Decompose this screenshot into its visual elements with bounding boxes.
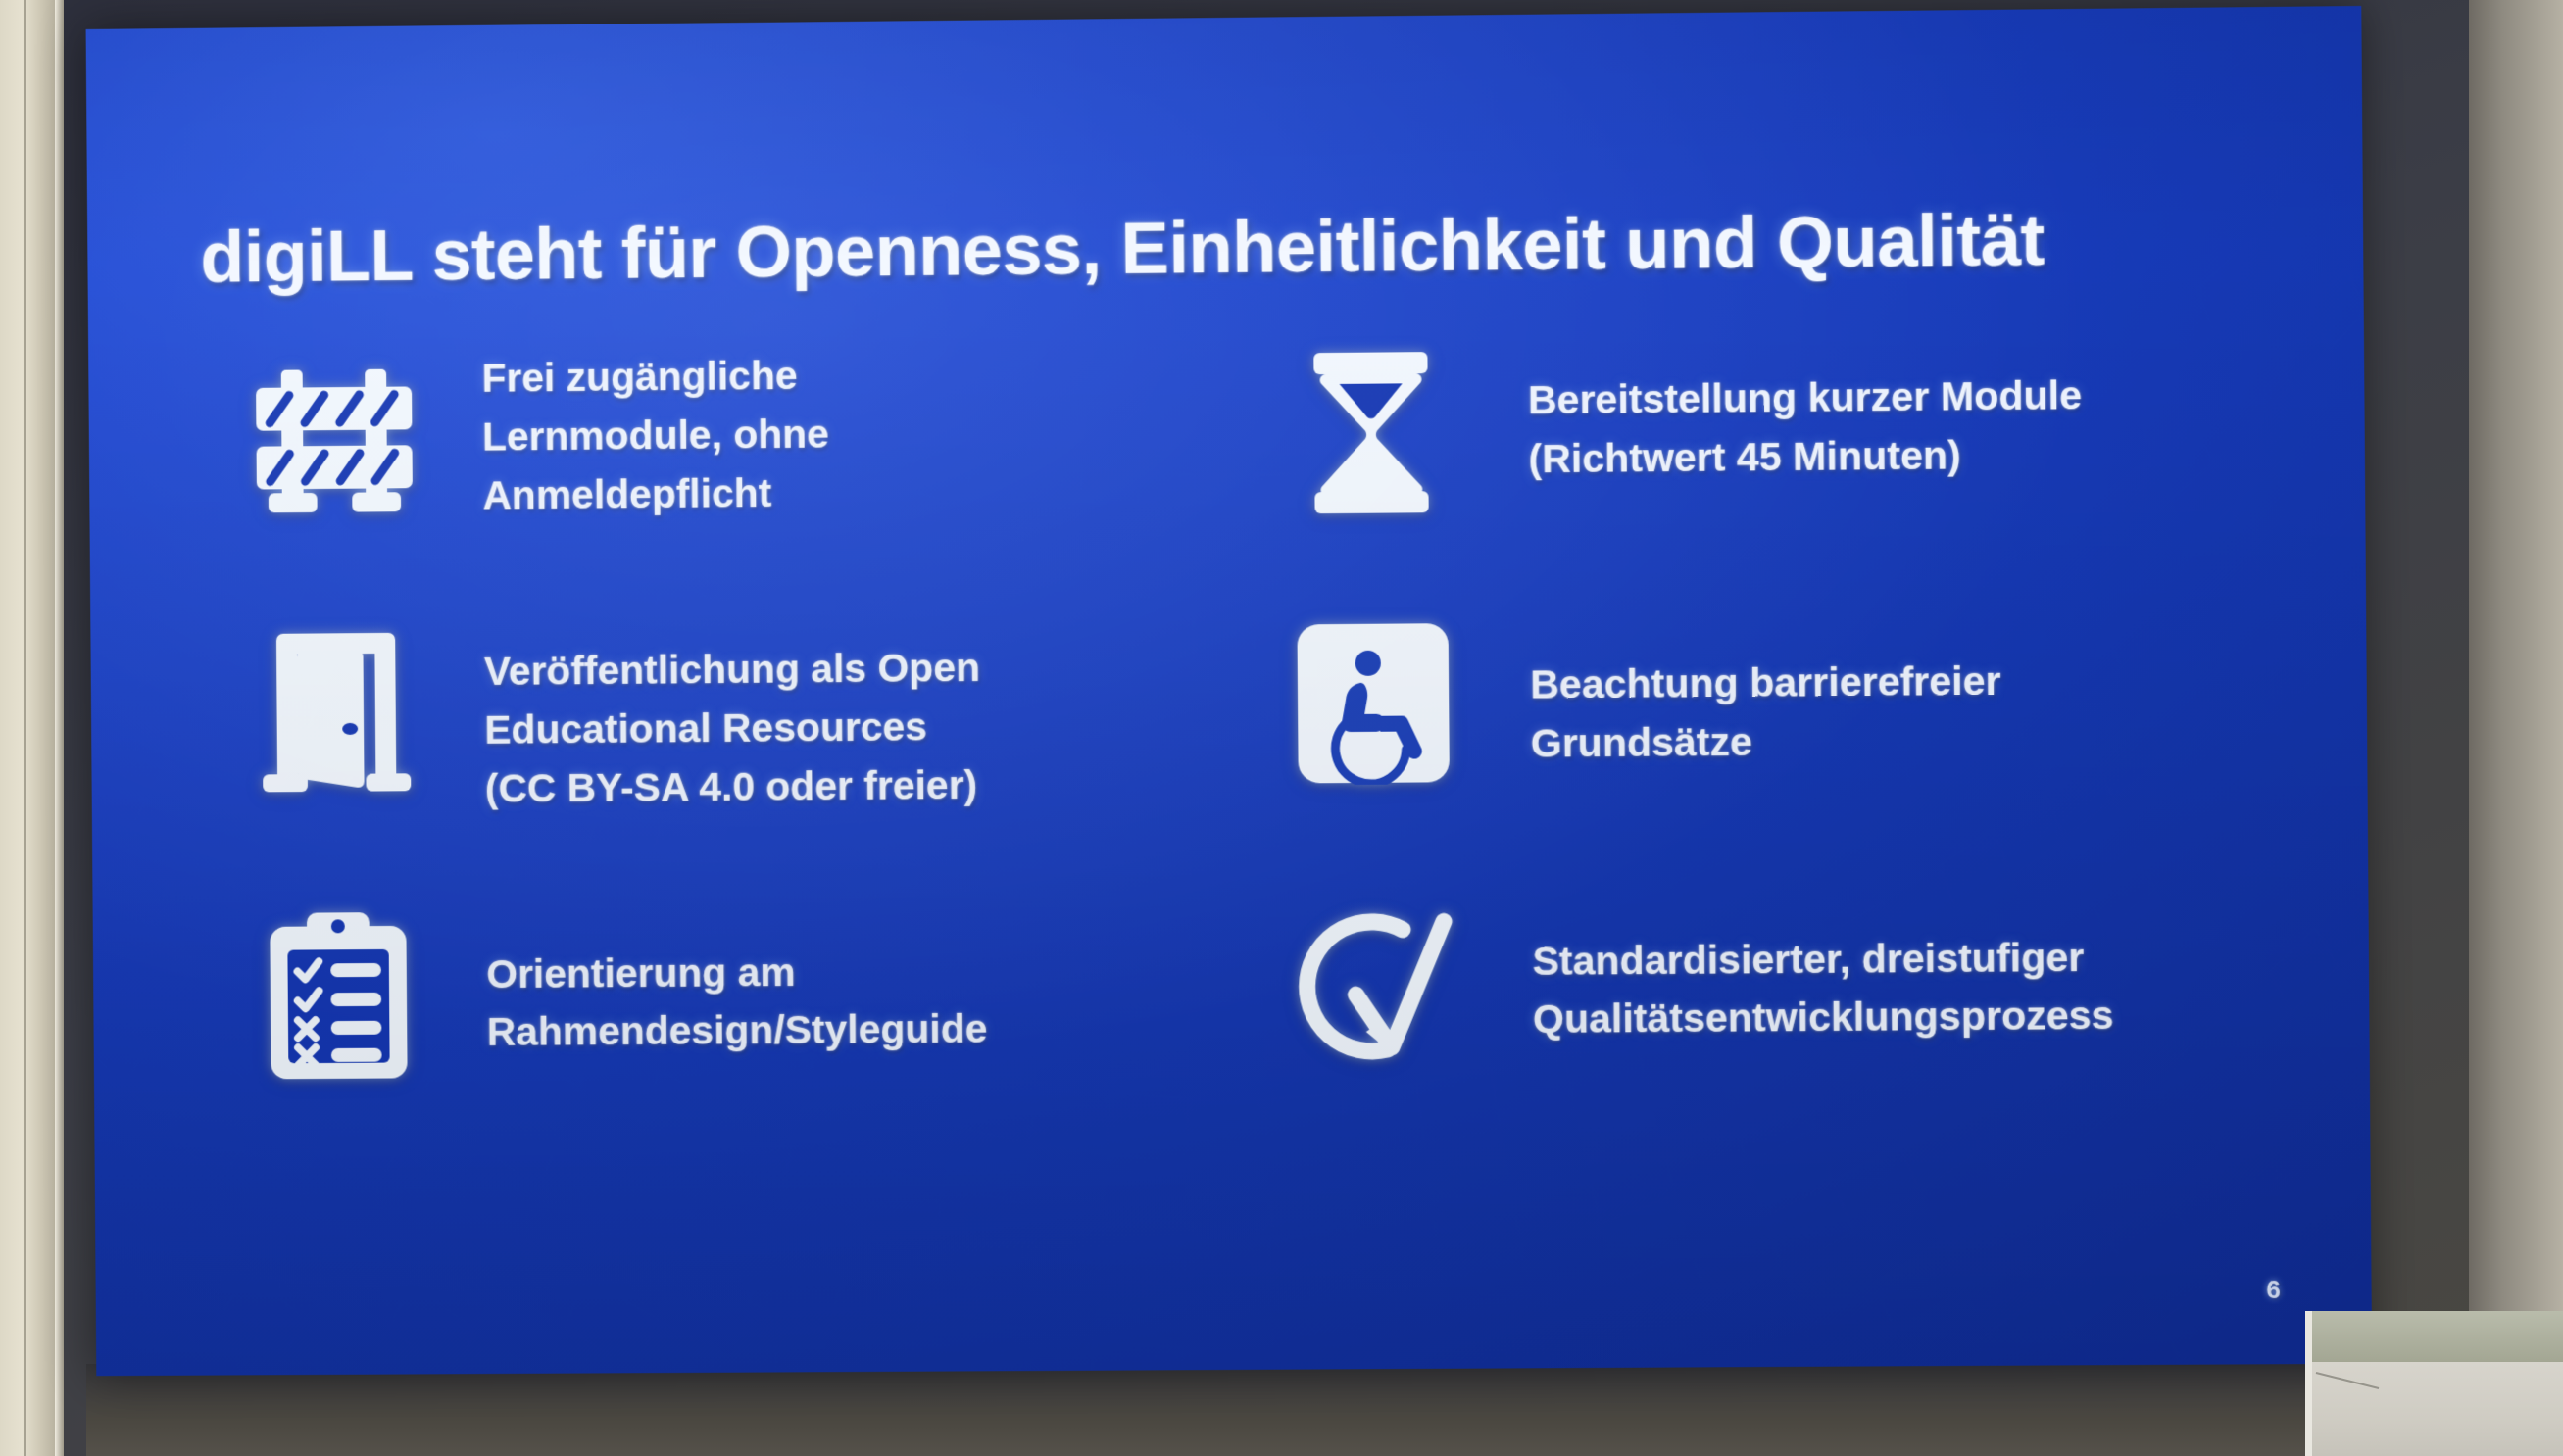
slide-page-number: 6 [2266, 1275, 2281, 1305]
bullet-item-veroeffentlichung: Veröffentlichung als Open Educational Re… [205, 611, 1227, 820]
bullet-text: Beachtung barrierefreier Grundsätze [1530, 603, 2275, 773]
bullet-line: Bereitstellung kurzer Module [1528, 364, 2272, 430]
bullet-line: Orientierung am [486, 941, 1228, 1004]
clipboard-checklist-icon [240, 902, 436, 1090]
room-wall-left [0, 0, 55, 1456]
bullet-item-qualitaetsprozess: Standardisierter, dreistufiger Qualitäts… [1248, 890, 2278, 1083]
bullet-item-frei-zugaengliche: Frei zugängliche Lernmodule, ohne Anmeld… [203, 341, 1224, 536]
bullet-text: Veröffentlichung als Open Educational Re… [483, 611, 1226, 818]
hourglass-icon [1272, 339, 1470, 527]
bullet-line: Standardisierter, dreistufiger [1532, 927, 2276, 991]
slide-title: digiLL steht für Openness, Einheitlichke… [200, 200, 2258, 296]
projected-slide-photo: digiLL steht für Openness, Einheitlichke… [0, 0, 2563, 1456]
bullet-line: Rahmendesign/Styleguide [487, 998, 1229, 1062]
bullet-line: Qualitätsentwicklungsprozess [1533, 986, 2277, 1049]
road-barrier-icon [236, 348, 432, 535]
wall-seam [24, 0, 26, 1456]
wheelchair-accessibility-icon [1274, 609, 1472, 798]
bullet-line: Anmeldepflicht [482, 461, 1224, 525]
bullet-text: Standardisierter, dreistufiger Qualitäts… [1532, 890, 2277, 1049]
bullet-line: Veröffentlichung als Open [484, 637, 1226, 702]
bullet-line: (CC BY-SA 4.0 oder freier) [485, 754, 1227, 818]
bullet-text: Orientierung am Rahmendesign/Styleguide [486, 898, 1229, 1063]
bullet-line: Frei zugängliche [481, 343, 1223, 409]
bullet-item-barrierefrei: Beachtung barrierefreier Grundsätze [1245, 603, 2275, 812]
slide-bullet-grid: Frei zugängliche Lernmodule, ohne Anmeld… [203, 331, 2277, 1090]
presentation-slide: digiLL steht für Openness, Einheitlichke… [86, 6, 2373, 1376]
bullet-item-bereitstellung: Bereitstellung kurzer Module (Richtwert … [1243, 331, 2272, 527]
bullet-line: Educational Resources [484, 696, 1226, 760]
bullet-line: Grundsätze [1531, 709, 2275, 774]
bullet-item-orientierung: Orientierung am Rahmendesign/Styleguide [208, 898, 1230, 1091]
open-door-icon [238, 618, 434, 805]
bullet-line: (Richtwert 45 Minuten) [1528, 423, 2272, 489]
bullet-line: Beachtung barrierefreier [1530, 650, 2274, 714]
flipchart-edge [2305, 1311, 2312, 1456]
wall-edge-left [55, 0, 64, 1456]
room-wall-right [2469, 0, 2563, 1456]
bullet-text: Frei zugängliche Lernmodule, ohne Anmeld… [481, 341, 1224, 525]
screen-bottom-shadow [86, 1364, 2362, 1456]
flipchart-paper [2311, 1362, 2563, 1456]
checkmark-cycle-icon [1277, 896, 1475, 1083]
bullet-line: Lernmodule, ohne [482, 402, 1224, 466]
flipchart-board [2305, 1311, 2563, 1456]
bullet-text: Bereitstellung kurzer Module (Richtwert … [1527, 331, 2272, 489]
